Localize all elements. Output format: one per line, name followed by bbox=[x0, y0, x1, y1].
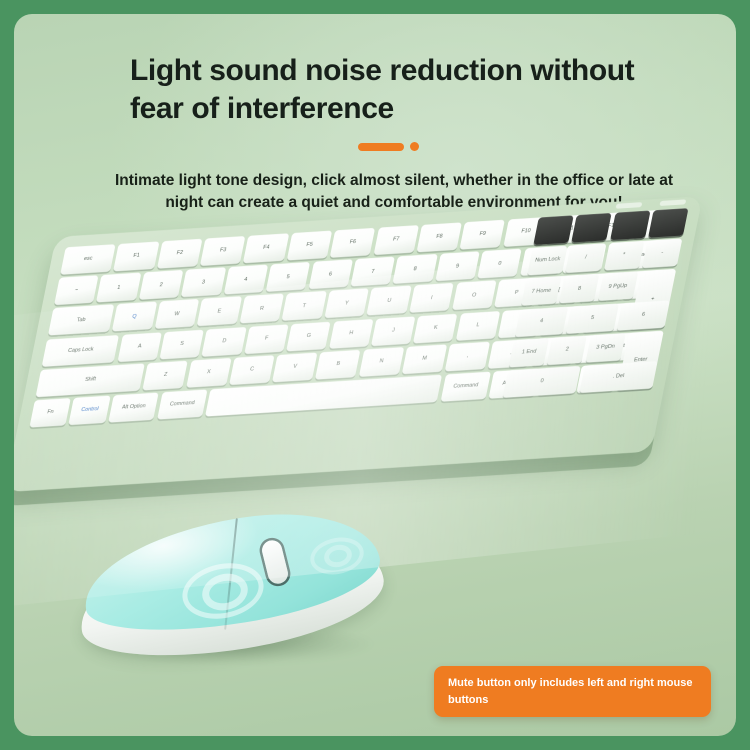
keyboard-key[interactable]: K bbox=[413, 313, 458, 343]
mute-button-callout: Mute button only includes left and right… bbox=[434, 666, 711, 717]
keypad-key[interactable]: 6 bbox=[617, 300, 670, 330]
keypad-key[interactable]: * bbox=[604, 241, 645, 271]
keypad-key[interactable]: 0 bbox=[502, 366, 581, 398]
product-banner: Light sound noise reduction without fear… bbox=[0, 0, 750, 750]
keypad-key[interactable]: 2 bbox=[547, 335, 588, 365]
keyboard-key[interactable]: 5 bbox=[266, 262, 311, 292]
keyboard-key[interactable]: D bbox=[202, 327, 247, 357]
keypad-key[interactable]: 7 Home bbox=[521, 277, 562, 307]
keyboard-key[interactable]: Fn bbox=[29, 398, 71, 428]
keyboard-key[interactable]: Y bbox=[324, 289, 369, 319]
keyboard-key[interactable]: 7 bbox=[350, 257, 395, 287]
keyboard-key[interactable]: F1 bbox=[114, 242, 160, 272]
keyboard-key[interactable]: H bbox=[329, 319, 374, 349]
wireless-mouse bbox=[72, 512, 392, 674]
banner-panel: Light sound noise reduction without fear… bbox=[14, 14, 736, 736]
keyboard-key[interactable]: Q bbox=[112, 302, 157, 332]
keypad-key[interactable]: . Del bbox=[579, 361, 658, 393]
keyboard-key[interactable]: A bbox=[117, 332, 162, 362]
keyboard-key[interactable]: U bbox=[367, 286, 412, 316]
keyboard-key[interactable]: Command bbox=[157, 389, 208, 419]
keyboard-key[interactable]: , bbox=[445, 341, 490, 371]
keyboard-key[interactable]: R bbox=[239, 294, 284, 324]
keyboard-key[interactable]: I bbox=[409, 283, 454, 313]
keyboard-key[interactable]: ~ bbox=[54, 275, 99, 305]
keyboard-key[interactable]: esc bbox=[60, 244, 116, 274]
keypad-key[interactable] bbox=[533, 215, 574, 245]
keyboard-key[interactable]: L bbox=[456, 311, 501, 341]
keypad-key[interactable]: 3 PgDn bbox=[585, 333, 626, 363]
keyboard-key[interactable]: S bbox=[160, 329, 205, 359]
keyboard: escF1F2F3F4F5F6F7F8F9F10F11F12Del~123456… bbox=[14, 196, 703, 492]
keyboard-key[interactable]: 9 bbox=[435, 252, 480, 282]
keyboard-key[interactable]: F bbox=[244, 324, 289, 354]
keyboard-key[interactable]: 3 bbox=[181, 267, 226, 297]
keyboard-key[interactable]: F2 bbox=[157, 239, 203, 269]
keypad-key[interactable]: 8 bbox=[559, 274, 600, 304]
divider-bar bbox=[358, 143, 404, 151]
keyboard-key[interactable]: Z bbox=[143, 360, 188, 390]
keypad-key[interactable]: 9 PgUp bbox=[597, 272, 638, 302]
keypad-key[interactable]: 5 bbox=[566, 303, 619, 333]
page-title: Light sound noise reduction without fear… bbox=[130, 52, 690, 129]
keypad-row: 0. Del bbox=[502, 361, 657, 398]
keypad-key[interactable] bbox=[610, 211, 651, 241]
keyboard-key[interactable]: 2 bbox=[139, 270, 184, 300]
keyboard-key[interactable]: F7 bbox=[373, 225, 419, 255]
keypad-key[interactable]: 4 bbox=[515, 306, 568, 336]
keyboard-key[interactable]: T bbox=[282, 291, 327, 321]
keyboard-key[interactable]: B bbox=[315, 350, 360, 380]
indicator-wireless-icon bbox=[659, 199, 686, 206]
keyboard-key[interactable]: F8 bbox=[416, 222, 462, 252]
keyboard-body: escF1F2F3F4F5F6F7F8F9F10F11F12Del~123456… bbox=[14, 196, 703, 492]
indicator-bluetooth-icon bbox=[616, 202, 643, 209]
keypad-key[interactable] bbox=[648, 208, 689, 238]
keyboard-key[interactable]: Alt Option bbox=[108, 392, 159, 422]
keyboard-key[interactable]: 8 bbox=[393, 254, 438, 284]
keypad-key[interactable]: 1 End bbox=[509, 338, 550, 368]
keyboard-key[interactable]: X bbox=[186, 358, 231, 388]
keyboard-key[interactable]: F9 bbox=[460, 220, 506, 250]
keyboard-key[interactable]: 0 bbox=[477, 249, 522, 279]
keyboard-key[interactable]: Shift bbox=[36, 363, 145, 397]
keyboard-key[interactable]: F6 bbox=[330, 228, 376, 258]
keyboard-key[interactable]: O bbox=[452, 281, 497, 311]
keyboard-key[interactable]: 1 bbox=[96, 273, 141, 303]
keyboard-key[interactable]: C bbox=[229, 355, 274, 385]
keyboard-region: escF1F2F3F4F5F6F7F8F9F10F11F12Del~123456… bbox=[14, 219, 736, 559]
keyboard-key[interactable]: 4 bbox=[223, 265, 268, 295]
keypad-key[interactable] bbox=[572, 213, 613, 243]
keyboard-key[interactable]: Tab bbox=[48, 305, 114, 336]
keyboard-key[interactable]: 6 bbox=[308, 259, 353, 289]
keypad-key[interactable]: / bbox=[565, 244, 606, 274]
keypad-key[interactable]: - bbox=[642, 239, 683, 269]
keyboard-key[interactable]: J bbox=[371, 316, 416, 346]
keyboard-key[interactable]: G bbox=[286, 321, 331, 351]
keyboard-key[interactable]: W bbox=[154, 299, 199, 329]
keyboard-key[interactable]: N bbox=[359, 347, 404, 377]
keypad-key[interactable]: Num Lock bbox=[527, 246, 568, 276]
keyboard-key[interactable]: M bbox=[402, 344, 447, 374]
keyboard-key[interactable]: Command bbox=[440, 371, 491, 401]
keyboard-key[interactable]: F3 bbox=[200, 236, 246, 266]
keyboard-key[interactable]: F5 bbox=[287, 231, 333, 261]
divider-dot bbox=[410, 142, 419, 151]
keyboard-key[interactable]: Control bbox=[69, 395, 111, 425]
divider bbox=[358, 142, 419, 151]
keyboard-key[interactable]: F4 bbox=[243, 233, 289, 263]
keyboard-key[interactable]: V bbox=[272, 352, 317, 382]
keyboard-key[interactable]: Caps Lock bbox=[42, 335, 120, 367]
keyboard-key[interactable]: E bbox=[197, 297, 242, 327]
